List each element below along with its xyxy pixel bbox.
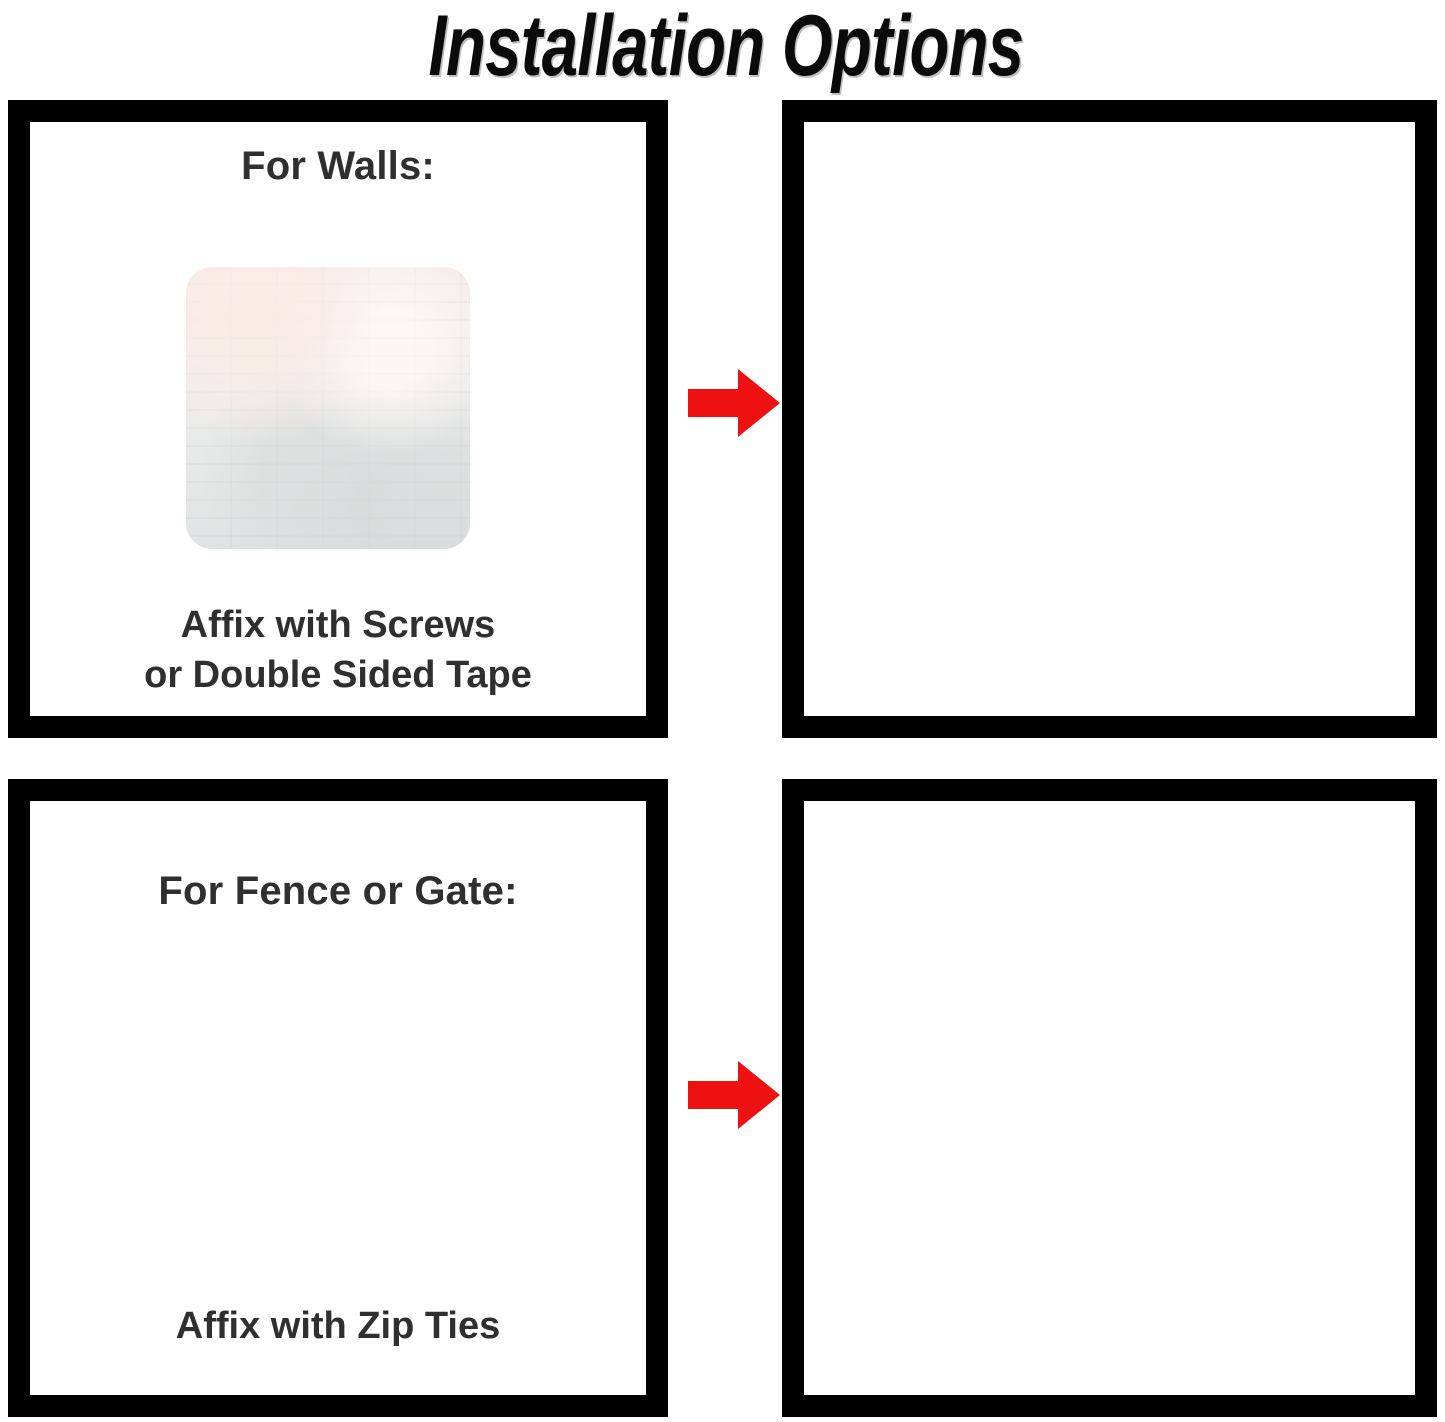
page-title: Installation Options	[177, 2, 1275, 90]
panel-wall-hardware: (Not Included)	[782, 100, 1437, 738]
white-brick-wall-swatch	[186, 267, 470, 549]
walls-caption-line1: Affix with Screws	[30, 600, 646, 650]
red-right-arrow-icon	[686, 1055, 782, 1135]
fence-heading: For Fence or Gate:	[30, 869, 646, 914]
walls-heading: For Walls:	[30, 144, 646, 189]
fence-caption: Affix with Zip Ties	[30, 1301, 646, 1351]
red-right-arrow-icon	[686, 363, 782, 443]
walls-caption-line2: or Double Sided Tape	[30, 650, 646, 700]
panel-zip-ties: (Not Included)	[782, 779, 1437, 1417]
brick-mottling	[186, 267, 470, 549]
panel-for-walls: For Walls: Affix with Screws or Double S…	[8, 100, 668, 738]
panel-for-fence-or-gate: For Fence or Gate:	[8, 779, 668, 1417]
